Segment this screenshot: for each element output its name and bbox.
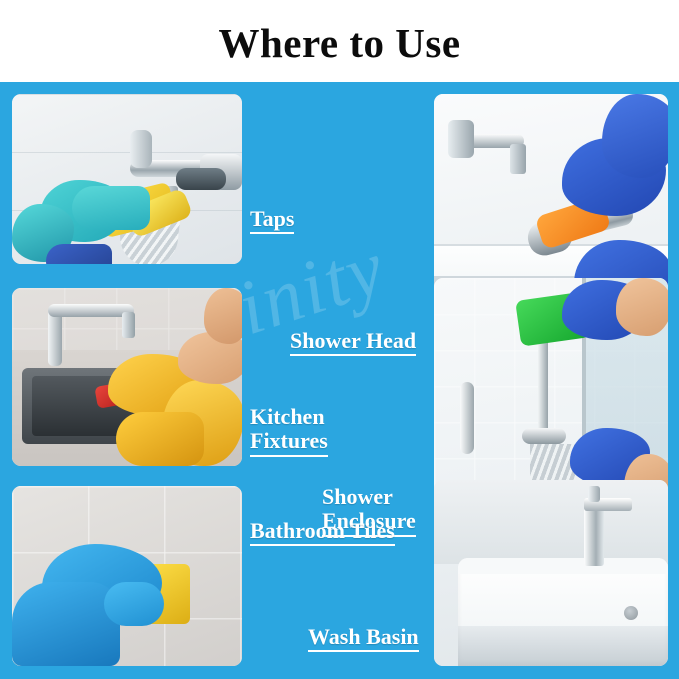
wash-basin-illustration [434,480,668,666]
photo-kitchen-fixtures[interactable] [12,288,242,466]
caption-kitchen-fixtures: Kitchen Fixtures [250,380,390,457]
caption-bathroom-tiles: Bathroom Tiles [250,494,420,546]
kitchen-fixtures-illustration [12,288,242,466]
caption-taps: Taps [250,182,370,234]
caption-wash-basin-text: Wash Basin [308,625,419,653]
caption-shower-head-text: Shower Head [290,329,416,357]
title-bar: Where to Use [0,0,679,82]
photo-wash-basin[interactable] [434,480,668,666]
photo-taps[interactable] [12,94,242,264]
caption-bathroom-tiles-text: Bathroom Tiles [250,519,395,547]
caption-taps-text: Taps [250,207,294,235]
page-title: Where to Use [218,23,460,64]
poster: Where to Use Divinity [0,0,679,679]
taps-illustration [12,94,242,264]
caption-kitchen-fixtures-text: Kitchen Fixtures [250,405,328,457]
photo-bathroom-tiles[interactable] [12,486,242,666]
caption-shower-head: Shower Head [290,304,438,356]
photo-board: Divinity [0,82,679,679]
bathroom-tiles-illustration [12,486,242,666]
photo-grid: Taps Shower Head Kitchen Fixtures Shower… [0,82,679,679]
caption-wash-basin: Wash Basin [308,600,448,652]
